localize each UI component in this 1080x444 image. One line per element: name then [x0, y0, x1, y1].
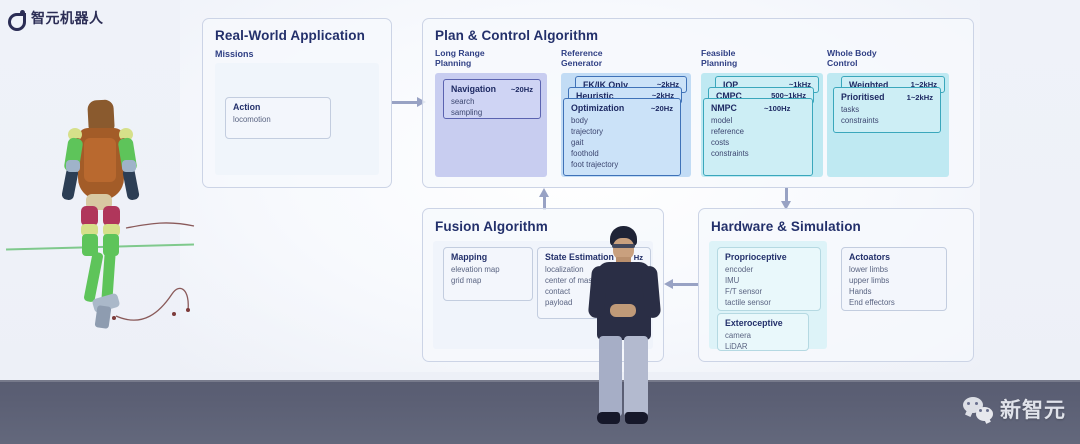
column-label-whole-body-control: Whole Body Control	[827, 48, 877, 69]
card-exteroceptive-body: camera LiDAR	[725, 330, 751, 352]
card-prioritised[interactable]: Prioritised 1~2kHz tasks constraints	[833, 87, 941, 133]
arrow-application-to-plan	[392, 96, 426, 108]
card-exteroceptive-title: Exteroceptive	[725, 318, 783, 328]
arrow-fusion-to-plan	[538, 188, 550, 210]
page-title-plan-control: Plan & Control Algorithm	[435, 28, 598, 43]
card-prioritised-title: Prioritised	[841, 92, 885, 102]
column-label-long-range-planning: Long Range Planning	[435, 48, 485, 69]
card-mapping-body: elevation map grid map	[451, 264, 500, 286]
card-actoators[interactable]: Actoators lower limbs upper limbs Hands …	[841, 247, 947, 311]
card-proprioceptive[interactable]: Proprioceptive encoder IMU F/T sensor ta…	[717, 247, 821, 311]
watermark: 新智元	[963, 394, 1066, 424]
panel-real-world-application[interactable]: Real-World Application Missions Action l…	[202, 18, 392, 188]
card-actoators-title: Actoators	[849, 252, 890, 262]
card-prioritised-body: tasks constraints	[841, 104, 879, 126]
card-nmpc-body: model reference costs constraints	[711, 115, 749, 159]
watermark-text: 新智元	[1000, 394, 1066, 424]
card-proprioceptive-title: Proprioceptive	[725, 252, 787, 262]
card-optimization[interactable]: Optimization ~20Hz body trajectory gait …	[563, 98, 681, 176]
stage-floor	[0, 380, 1080, 444]
card-nmpc-frequency: ~100Hz	[764, 104, 790, 113]
presenter	[586, 226, 664, 432]
page-title-hardware-simulation: Hardware & Simulation	[711, 219, 861, 234]
card-nmpc-title: NMPC	[711, 103, 737, 113]
card-action[interactable]: Action locomotion	[225, 97, 331, 139]
column-label-feasible-planning: Feasible Planning	[701, 48, 737, 69]
arrow-hardware-to-fusion	[664, 278, 698, 290]
page-title-fusion-algorithm: Fusion Algorithm	[435, 219, 548, 234]
wechat-icon	[963, 397, 993, 421]
card-nmpc[interactable]: NMPC ~100Hz model reference costs constr…	[703, 98, 813, 176]
card-mapping-title: Mapping	[451, 252, 487, 262]
column-label-reference-generator: Reference Generator	[561, 48, 603, 69]
card-proprioceptive-body: encoder IMU F/T sensor tactile sensor	[725, 264, 771, 308]
agibot-logo-icon	[8, 10, 25, 27]
card-navigation-title: Navigation	[451, 84, 496, 94]
card-action-title: Action	[233, 102, 260, 112]
card-optimization-body: body trajectory gait foothold foot traje…	[571, 115, 618, 170]
page-title-real-world-application: Real-World Application	[215, 28, 365, 43]
card-navigation-frequency: ~20Hz	[511, 85, 533, 94]
robot-visualization	[48, 98, 198, 338]
panel-plan-control-algorithm[interactable]: Plan & Control Algorithm Long Range Plan…	[422, 18, 974, 188]
card-prioritised-frequency: 1~2kHz	[907, 93, 933, 102]
card-mapping[interactable]: Mapping elevation map grid map	[443, 247, 533, 301]
card-optimization-title: Optimization	[571, 103, 624, 113]
panel-hardware-simulation[interactable]: Hardware & Simulation Proprioceptive enc…	[698, 208, 974, 362]
card-navigation-body: search sampling	[451, 96, 482, 118]
card-optimization-frequency: ~20Hz	[651, 104, 673, 113]
section-label-missions: Missions	[215, 49, 254, 60]
card-navigation[interactable]: Navigation ~20Hz search sampling	[443, 79, 541, 119]
arrow-plan-to-hardware	[780, 188, 792, 210]
card-actoators-body: lower limbs upper limbs Hands End effect…	[849, 264, 895, 308]
trajectory-trace	[48, 98, 198, 338]
card-action-body: locomotion	[233, 114, 271, 125]
brand-name: 智元机器人	[31, 8, 104, 28]
card-exteroceptive[interactable]: Exteroceptive camera LiDAR	[717, 313, 809, 351]
brand-logo: 智元机器人	[8, 8, 104, 28]
